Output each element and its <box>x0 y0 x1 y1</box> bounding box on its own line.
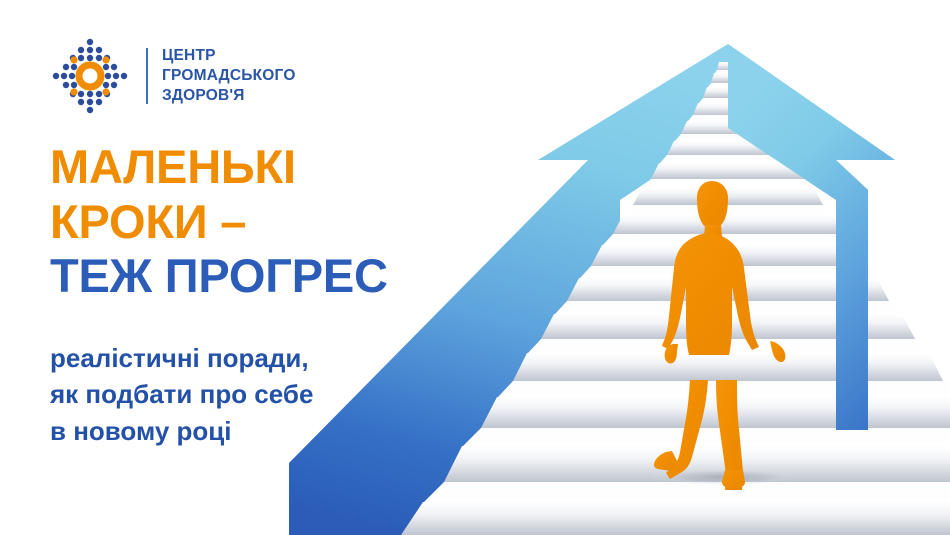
logo-line-1: ЦЕНТР <box>162 46 296 66</box>
walking-person-silhouette <box>654 181 785 490</box>
logo-line-2: ГРОМАДСЬКОГО <box>162 66 296 86</box>
subtitle-line-3: в новому році <box>50 413 313 449</box>
headline-line-1: МАЛЕНЬКІ <box>50 140 388 195</box>
subtitle: реалістичні поради, як подбати про себе … <box>50 340 313 449</box>
organization-logo: ЦЕНТР ГРОМАДСЬКОГО ЗДОРОВ'Я <box>50 36 296 116</box>
figure-ground-shadow <box>647 468 803 486</box>
subtitle-line-2: як подбати про себе <box>50 376 313 412</box>
logo-wordmark: ЦЕНТР ГРОМАДСЬКОГО ЗДОРОВ'Я <box>162 46 296 105</box>
poster-canvas: ЦЕНТР ГРОМАДСЬКОГО ЗДОРОВ'Я МАЛЕНЬКІ КРО… <box>0 0 950 535</box>
perspective-staircase <box>401 62 950 535</box>
headline-line-3: ТЕЖ ПРОГРЕС <box>50 249 388 304</box>
logo-divider <box>146 48 148 104</box>
headline-line-2: КРОКИ – <box>50 195 388 250</box>
logo-line-3: ЗДОРОВ'Я <box>162 86 296 106</box>
phc-diamond-dots-logo-icon <box>50 36 130 116</box>
subtitle-line-1: реалістичні поради, <box>50 340 313 376</box>
headline: МАЛЕНЬКІ КРОКИ – ТЕЖ ПРОГРЕС <box>50 140 388 304</box>
arrow-right-wing <box>728 44 895 430</box>
